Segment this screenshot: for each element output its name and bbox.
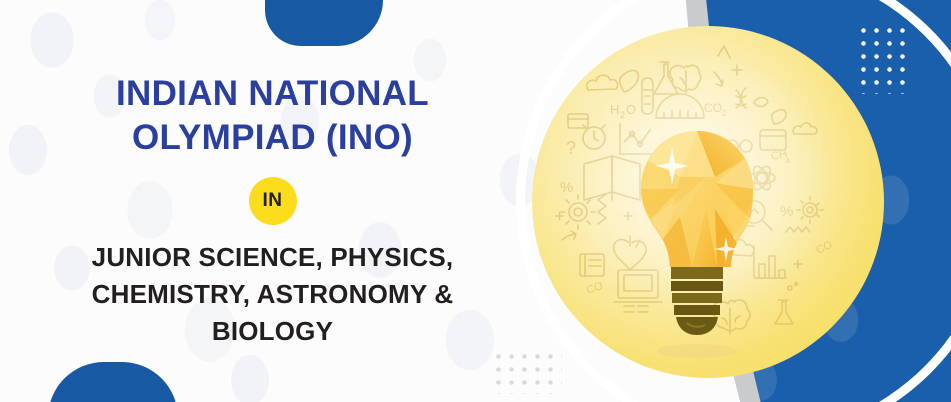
subjects-list: JUNIOR SCIENCE, PHYSICS, CHEMISTRY, ASTR… — [20, 239, 525, 350]
light-bulb-icon — [625, 125, 770, 360]
gray-dot-grid — [490, 348, 562, 394]
subjects-line-2: CHEMISTRY, ASTRONOMY & — [92, 279, 454, 309]
page-title: INDIAN NATIONAL OLYMPIAD (INO) — [20, 72, 525, 160]
blue-dot-grid — [855, 22, 905, 94]
in-connector-badge: IN — [249, 177, 297, 225]
headline-line-1: INDIAN NATIONAL — [116, 74, 429, 113]
svg-text:?: ? — [566, 138, 576, 158]
headline-line-2: OLYMPIAD (INO) — [132, 118, 413, 157]
subjects-line-3: BIOLOGY — [212, 316, 333, 346]
banner-text-block: INDIAN NATIONAL OLYMPIAD (INO) IN JUNIOR… — [20, 72, 525, 350]
ino-olympiad-banner: H 2 O — [0, 0, 951, 402]
subjects-line-1: JUNIOR SCIENCE, PHYSICS, — [92, 242, 454, 272]
